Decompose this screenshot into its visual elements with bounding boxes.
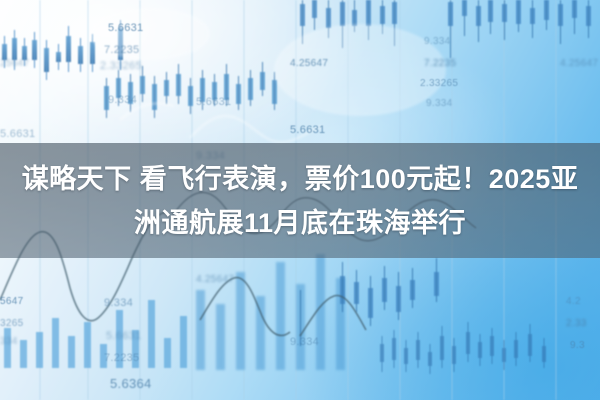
headline-line-1: 谋略天下 看飞行表演，票价100元起！2025亚: [22, 159, 579, 199]
chart-value-label: 2.33: [566, 318, 587, 329]
chart-value-label: 4.2: [566, 296, 581, 307]
chart-value-label: 5.6631: [290, 124, 325, 136]
chart-value-label: 9.334: [426, 98, 453, 109]
chart-value-label: 2.33265: [420, 78, 458, 89]
chart-value-label: 5.6631: [106, 330, 141, 342]
chart-value-label: 5.6631: [196, 96, 231, 108]
chart-value-label: 4.25647: [290, 58, 328, 69]
headline-block: 谋略天下 看飞行表演，票价100元起！2025亚 洲通航展11月底在珠海举行: [0, 143, 600, 258]
chart-value-label: 7.2235: [104, 352, 139, 364]
chart-value-label: 9.334: [108, 94, 137, 106]
chart-value-label: 4.25647: [560, 58, 598, 69]
chart-value-label: 5.6631: [0, 128, 35, 140]
chart-value-label: 9.334: [424, 36, 451, 47]
chart-value-label: 5647: [0, 296, 23, 307]
thumbnail-canvas: 5.66317.22352.332659.3344.256474.256475.…: [0, 0, 600, 400]
chart-value-label: 9.3: [570, 340, 585, 351]
chart-value-label: 7.2235: [104, 44, 139, 56]
chart-value-label: 9.334: [290, 336, 319, 348]
chart-value-label: 4.25647: [196, 274, 234, 285]
chart-value-label: 2.33265: [100, 60, 142, 72]
chart-value-label: 5.6364: [110, 376, 152, 391]
chart-value-label: 25647: [0, 58, 29, 69]
chart-value-label: 3265: [0, 318, 23, 329]
chart-value-label: 9.334: [104, 297, 133, 309]
chart-value-label: 334: [0, 336, 18, 347]
chart-value-label: 5.6631: [108, 22, 143, 34]
headline-line-2: 洲通航展11月底在珠海举行: [134, 203, 466, 243]
chart-value-label: 7.2235: [424, 58, 456, 69]
